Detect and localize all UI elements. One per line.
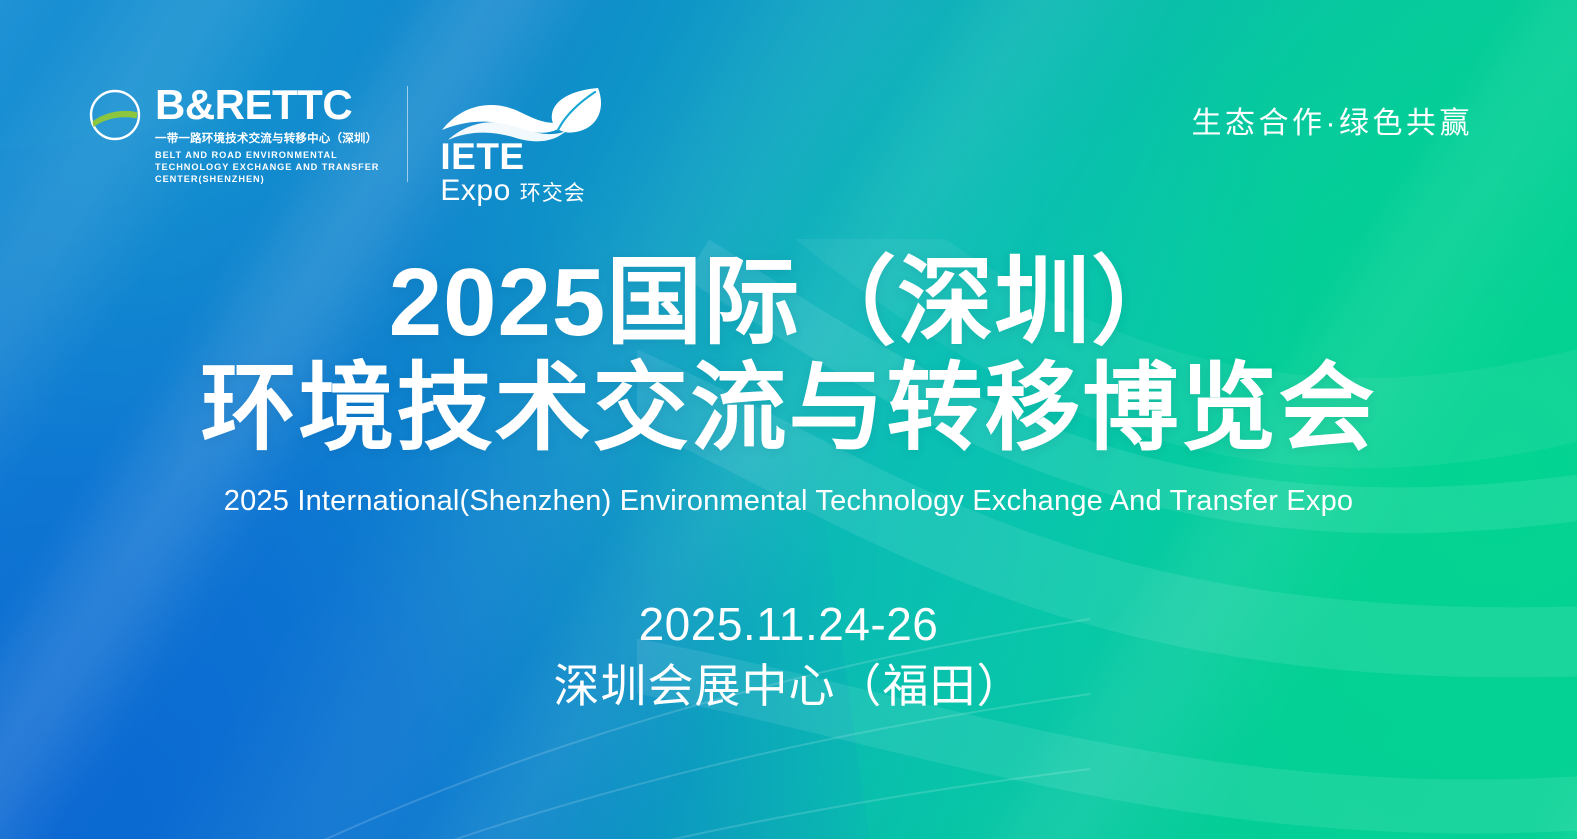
brettc-en-line1: BELT AND ROAD ENVIRONMENTAL <box>155 149 379 161</box>
logo-iete-expo[interactable]: IETE Expo 环交会 <box>440 86 610 206</box>
iete-cn-label: 环交会 <box>520 183 586 204</box>
banner-slogan: 生态合作·绿色共赢 <box>1192 98 1474 142</box>
brettc-name: B&RETTC <box>155 86 379 125</box>
brettc-name-en: BELT AND ROAD ENVIRONMENTAL TECHNOLOGY E… <box>155 149 379 186</box>
logo-brettc[interactable]: B&RETTC 一带一路环境技术交流与转移中心（深圳） BELT AND ROA… <box>88 86 408 182</box>
brettc-en-line2: TECHNOLOGY EXCHANGE AND TRANSFER <box>155 161 379 173</box>
brettc-name-cn: 一带一路环境技术交流与转移中心（深圳） <box>155 130 379 146</box>
event-subtitle-en: 2025 International(Shenzhen) Environment… <box>0 485 1577 518</box>
event-date: 2025.11.24-26 <box>0 596 1577 652</box>
iete-wordmark: IETE <box>440 141 610 174</box>
event-title-line2: 环境技术交流与转移博览会 <box>0 355 1577 463</box>
event-banner: B&RETTC 一带一路环境技术交流与转移中心（深圳） BELT AND ROA… <box>0 0 1577 839</box>
banner-header: B&RETTC 一带一路环境技术交流与转移中心（深圳） BELT AND ROA… <box>0 0 1577 210</box>
event-title-line1: 2025国际（深圳） <box>0 255 1577 351</box>
brettc-text-block: B&RETTC 一带一路环境技术交流与转移中心（深圳） BELT AND ROA… <box>155 86 379 186</box>
brettc-en-line3: CENTER(SHENZHEN) <box>155 173 379 185</box>
event-venue: 深圳会展中心（福田） <box>0 658 1577 714</box>
logo-group: B&RETTC 一带一路环境技术交流与转移中心（深圳） BELT AND ROA… <box>88 86 610 206</box>
circle-globe-band-icon <box>88 88 142 142</box>
iete-subtitle: Expo 环交会 <box>440 176 610 206</box>
banner-main: 2025国际（深圳） 环境技术交流与转移博览会 2025 Internation… <box>0 255 1577 714</box>
iete-expo-label: Expo <box>440 176 510 206</box>
event-info: 2025.11.24-26 深圳会展中心（福田） <box>0 596 1577 714</box>
